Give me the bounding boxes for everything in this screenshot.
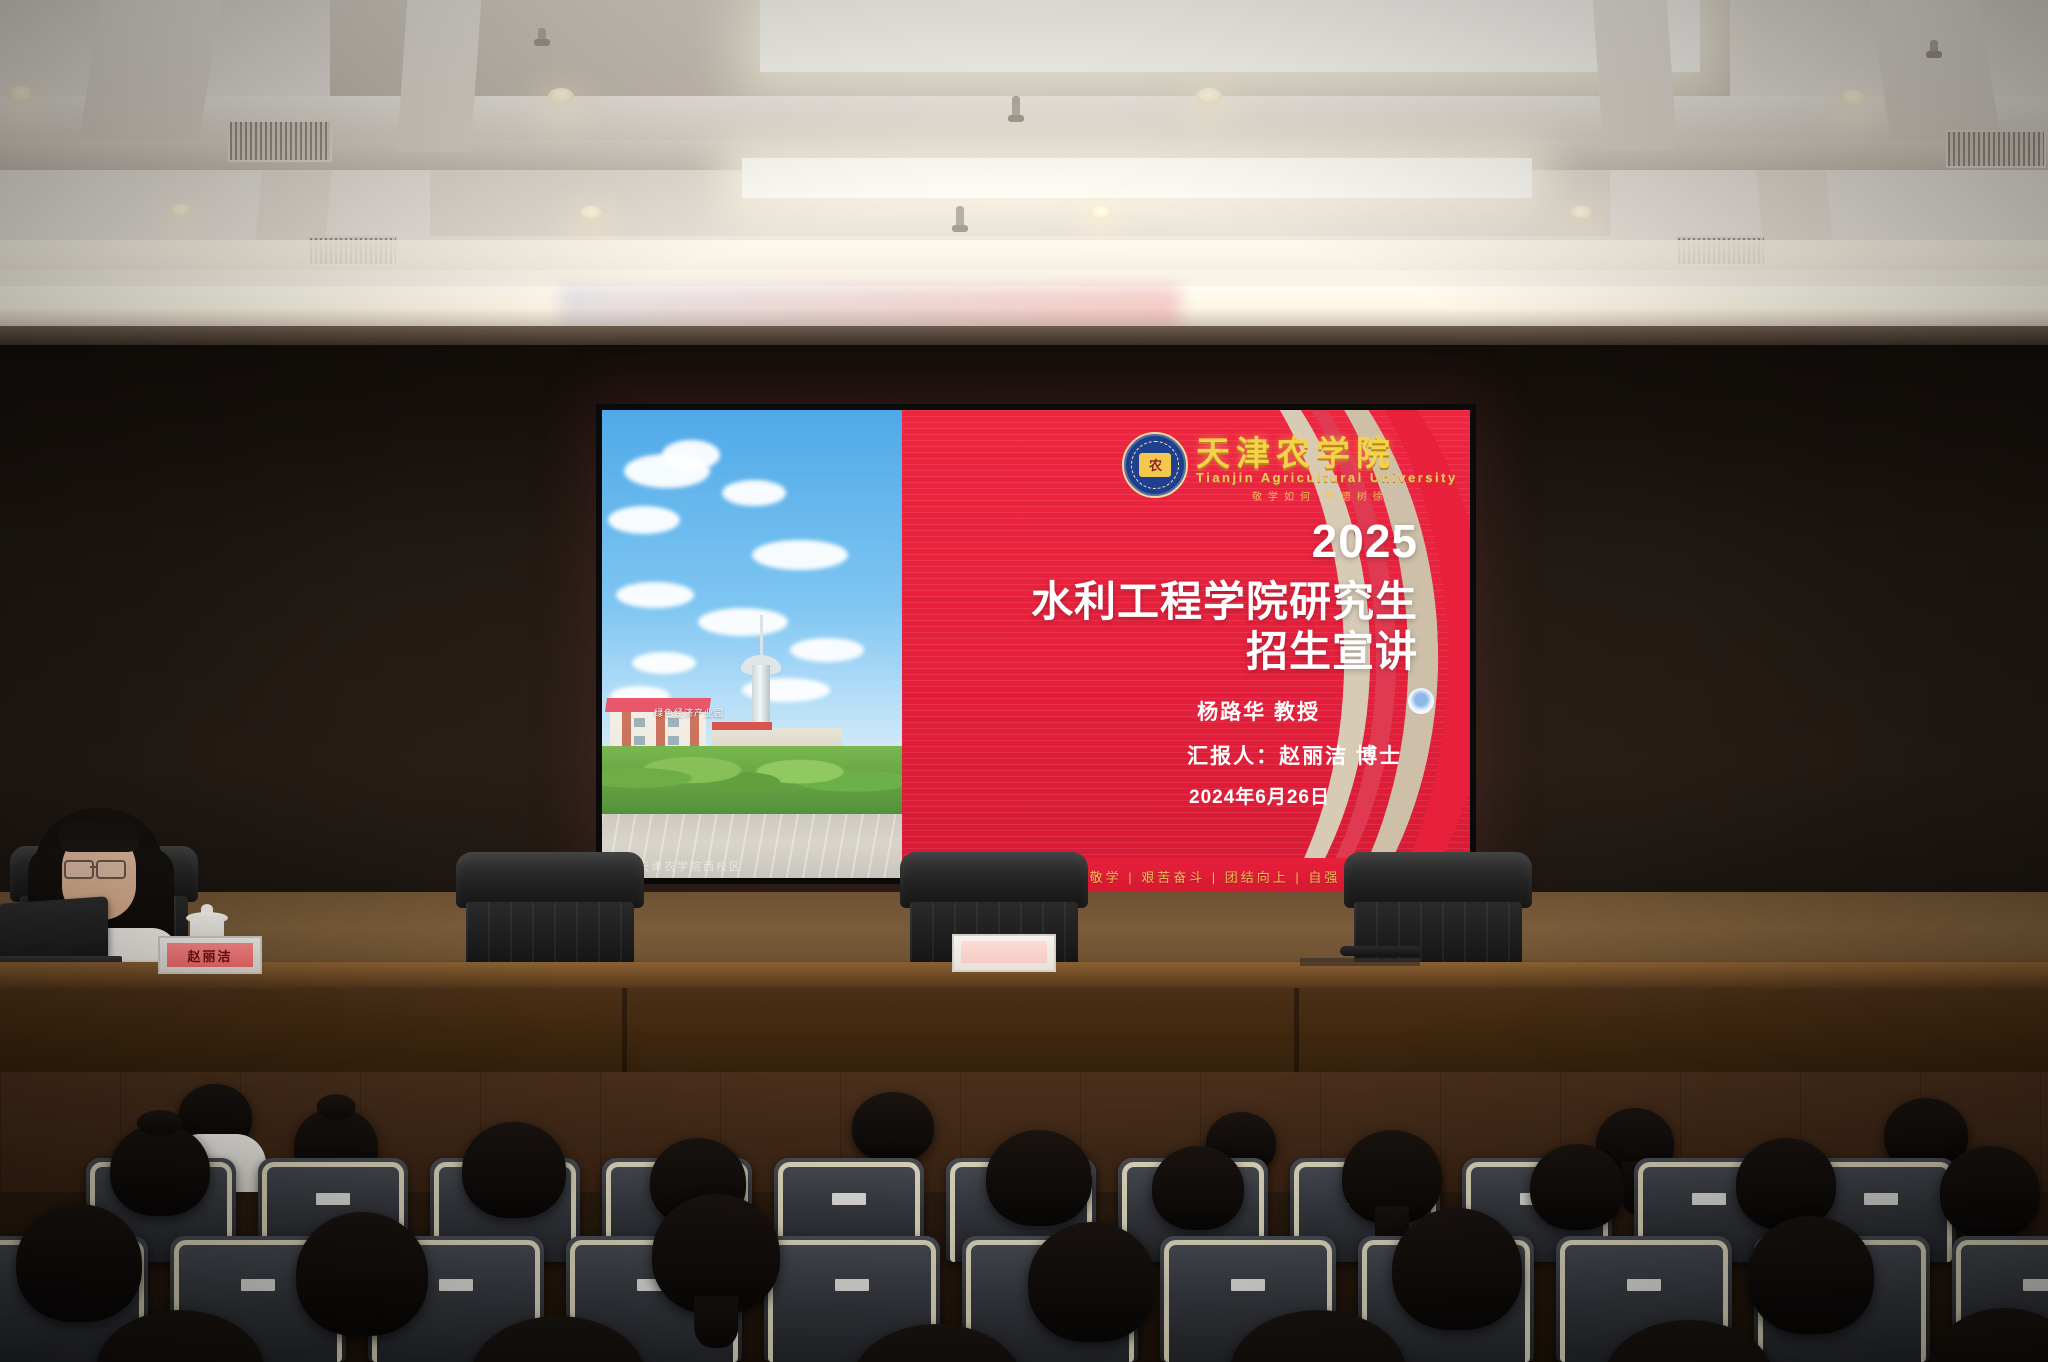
audience-head [1342, 1130, 1442, 1224]
audience-head [462, 1122, 566, 1218]
desk-pad [1300, 958, 1420, 966]
slide-reporter: 汇报人：赵丽洁 博士 [1187, 740, 1402, 770]
audience-head-front [1930, 1308, 2048, 1362]
nameplate-center-text [961, 941, 1047, 963]
university-seal-icon: 农 [1122, 432, 1188, 498]
seat-number-tag [832, 1193, 866, 1205]
slide-presenter: 杨路华 教授 [1197, 696, 1320, 726]
downlight-icon [1570, 206, 1592, 219]
audience-head [1152, 1146, 1244, 1230]
audience-head [852, 1092, 934, 1162]
seal-character: 农 [1139, 453, 1171, 477]
audience-head [1392, 1208, 1522, 1330]
ceiling-light-panel [760, 0, 1700, 72]
stage-table-front [0, 988, 2048, 1080]
table-seam [1294, 988, 1299, 1080]
audience-head [986, 1130, 1092, 1226]
downlight-icon [580, 206, 602, 219]
cove-color-tint [560, 286, 1180, 328]
sprinkler-icon [956, 206, 964, 228]
downlight-icon [548, 88, 574, 104]
seat-number-tag [241, 1279, 275, 1291]
slide-date: 2024年6月26日 [1189, 782, 1330, 809]
downlight-icon [1840, 90, 1866, 106]
downlight-icon [1196, 88, 1222, 104]
air-vent-icon [1946, 130, 2046, 168]
seat-number-tag [1627, 1279, 1661, 1291]
university-motto-small: 敬学如何 明德树徐 [1252, 488, 1389, 503]
eyeglasses-icon [96, 860, 126, 879]
audience-head [1940, 1146, 2040, 1238]
slide-title-line2: 招生宣讲 [1246, 618, 1418, 679]
university-name-cn: 天津农学院 [1196, 426, 1396, 475]
audience-head [110, 1124, 210, 1216]
audience-head [1748, 1216, 1874, 1334]
presentation-slide: 绿色经济产业园 天津农学院西校区 农 天津农学院 Tianjin Agricul… [602, 410, 1470, 878]
university-name-en: Tianjin Agricultural University [1196, 470, 1458, 485]
university-logo: 农 天津农学院 Tianjin Agricultural University … [1122, 426, 1462, 502]
photo-watermark: 天津农学院西校区 [638, 858, 742, 874]
nameplate-center [952, 934, 1056, 972]
lecture-hall-photo: 绿色经济产业园 天津农学院西校区 农 天津农学院 Tianjin Agricul… [0, 0, 2048, 1362]
downlight-icon [8, 86, 34, 102]
photo-caption: 绿色经济产业园 [654, 706, 724, 719]
air-vent-icon [228, 120, 332, 162]
seat-number-tag [439, 1279, 473, 1291]
seat-number-tag [1231, 1279, 1265, 1291]
motto-banner: 敬学 | 艰苦奋斗 | 团结向上 | 自强 [1040, 858, 1390, 894]
nameplate-left: 赵丽洁 [158, 936, 262, 974]
downlight-icon [170, 204, 192, 217]
seat-number-tag [2023, 1279, 2048, 1291]
seat-number-tag [1692, 1193, 1726, 1205]
audience-head [652, 1194, 780, 1314]
seat-number-tag [1864, 1193, 1898, 1205]
table-seam [622, 988, 627, 1080]
ceiling-light-panel-2 [742, 158, 1532, 198]
projection-screen[interactable]: 绿色经济产业园 天津农学院西校区 农 天津农学院 Tianjin Agricul… [596, 404, 1476, 884]
seat-number-tag [835, 1279, 869, 1291]
eyeglasses-icon [64, 860, 94, 879]
seat-number-tag [316, 1193, 350, 1205]
audience-head [1028, 1222, 1156, 1342]
sprinkler-icon [1012, 96, 1020, 118]
sprinkler-icon [538, 28, 546, 42]
audience-head [16, 1204, 142, 1322]
projector-hotspot [1408, 688, 1434, 714]
motto-text: 敬学 | 艰苦奋斗 | 团结向上 | 自强 [1090, 867, 1341, 886]
downlight-icon [1090, 206, 1112, 219]
slide-year: 2025 [1312, 514, 1418, 568]
tower-mast [760, 615, 763, 659]
nameplate-left-text: 赵丽洁 [167, 943, 253, 967]
sprinkler-icon [1930, 40, 1938, 54]
audience-head [1530, 1144, 1624, 1230]
audience-head [296, 1212, 428, 1336]
audience-area [0, 1072, 2048, 1362]
microphone[interactable] [1340, 946, 1422, 956]
